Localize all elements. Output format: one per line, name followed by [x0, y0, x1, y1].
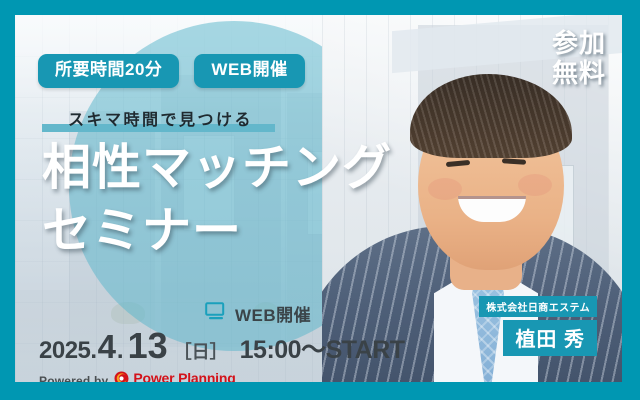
speaker-company: 株式会社日商エステム [479, 296, 597, 317]
powered-by-block: Powered by Power Planning パワープランニング株式会社 [39, 371, 236, 382]
seminar-banner: 所要時間20分 WEB開催 参加 無料 スキマ時間で見つける 相性マッチング セ… [0, 0, 640, 400]
date-separator: . [117, 337, 124, 365]
web-format-line: WEB開催 [205, 301, 311, 326]
logo-name: Power Planning [133, 371, 235, 382]
kicker-text: スキマ時間で見つける [68, 111, 253, 132]
date-month: 4 [98, 328, 116, 366]
speaker-nameplate: 株式会社日商エステム 植田 秀 [479, 296, 597, 356]
power-planning-logo: Power Planning パワープランニング株式会社 [114, 371, 235, 382]
date-day: 13 [128, 325, 168, 367]
cheek-shape [518, 174, 552, 196]
badge-web[interactable]: WEB開催 [194, 54, 304, 88]
web-format-label: WEB開催 [235, 301, 311, 326]
free-participation-tag: 参加 無料 [552, 29, 606, 89]
powered-by-prefix: Powered by [39, 374, 108, 382]
kicker-wrap: スキマ時間で見つける [42, 111, 275, 132]
banner-stage: 所要時間20分 WEB開催 参加 無料 スキマ時間で見つける 相性マッチング セ… [15, 15, 622, 382]
speaker-name: 植田 秀 [503, 320, 597, 356]
date-year: 2025. [39, 337, 97, 365]
monitor-icon [205, 302, 227, 325]
date-day-of-week: ［日］ [174, 338, 228, 364]
free-tag-line2: 無料 [552, 59, 606, 89]
headline-block: スキマ時間で見つける 相性マッチング セミナー [42, 111, 392, 258]
badge-group: 所要時間20分 WEB開催 [38, 54, 305, 88]
title-line-1: 相性マッチング [42, 142, 392, 195]
free-tag-line1: 参加 [552, 29, 606, 59]
title-line-2: セミナー [42, 205, 392, 258]
power-planning-wordmark: Power Planning パワープランニング株式会社 [133, 371, 235, 382]
cheek-shape [428, 178, 462, 200]
swirl-icon [114, 371, 129, 382]
date-start-time: 15:00〜START [240, 330, 405, 366]
event-date-row: 2025. 4 . 13 ［日］ 15:00〜START [39, 325, 405, 367]
badge-duration[interactable]: 所要時間20分 [38, 54, 179, 88]
